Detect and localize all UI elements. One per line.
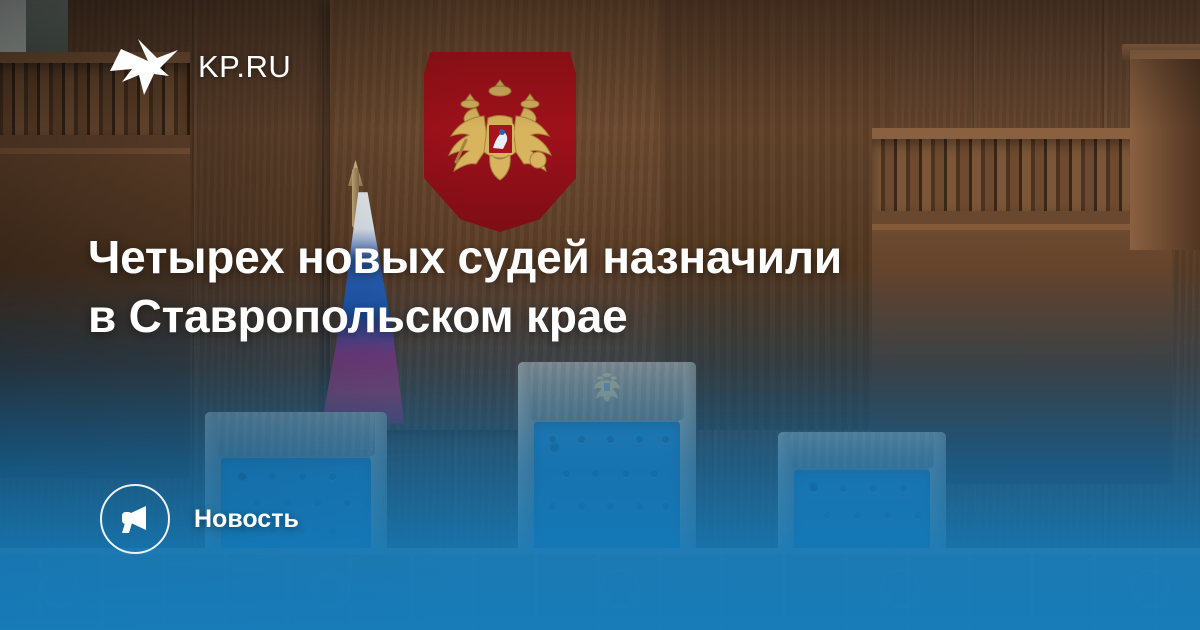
brand-logo[interactable]: KP.RU xyxy=(108,36,291,98)
headline-line-1: Четырех новых судей назначили xyxy=(88,231,842,283)
headline-line-2: в Ставропольском крае xyxy=(88,290,628,342)
swallow-bird-icon xyxy=(108,36,180,98)
megaphone-icon xyxy=(118,504,152,534)
status-badge[interactable]: Новость xyxy=(100,484,299,554)
brand-name: KP.RU xyxy=(198,49,291,85)
news-share-card: KP.RU Четырех новых судей назначили в Ст… xyxy=(0,0,1200,630)
page-title: Четырех новых судей назначили в Ставропо… xyxy=(88,228,1068,346)
badge-circle xyxy=(100,484,170,554)
badge-label: Новость xyxy=(194,505,299,534)
